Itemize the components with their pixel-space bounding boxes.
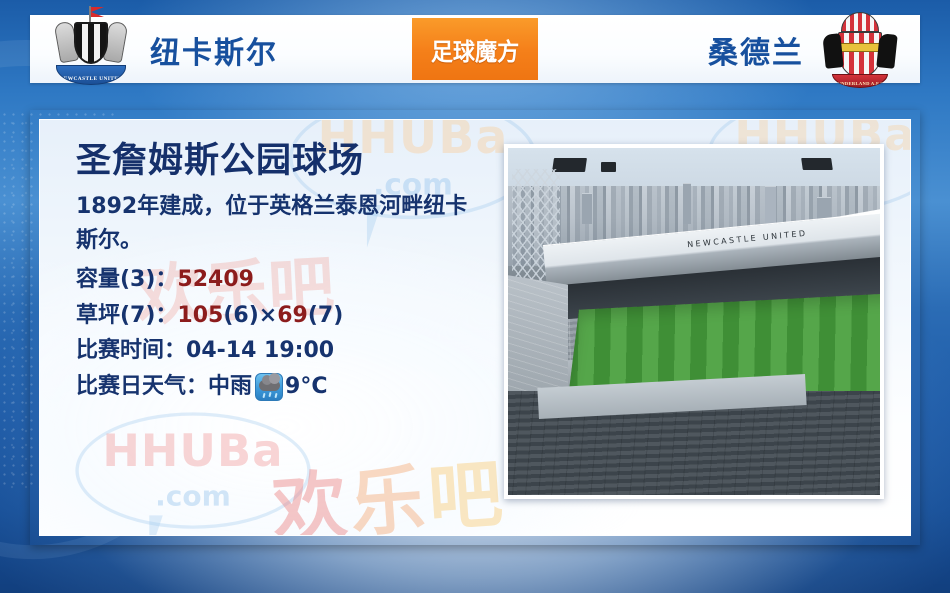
watermark-cn-char-1: 欢 bbox=[270, 462, 354, 536]
match-time-label: 比赛时间： bbox=[76, 333, 186, 369]
pitch-length-rank: (6) bbox=[223, 298, 258, 334]
home-crest-ribbon-text: NEWCASTLE UNITED bbox=[56, 65, 126, 85]
capacity-label: 容量(3)： bbox=[76, 262, 177, 298]
photo-city-tower bbox=[765, 186, 776, 224]
stadium-title: 圣詹姆斯公园球场 bbox=[76, 142, 496, 181]
stadium-photo-frame[interactable]: NEWCASTLE UNITED bbox=[504, 144, 884, 499]
rain-cloud-icon bbox=[255, 373, 283, 401]
weather-temperature: 9°C bbox=[285, 369, 327, 405]
pitch-size-row: 草坪(7)：105(6)×69(7) bbox=[76, 298, 496, 334]
pitch-length-value: 105 bbox=[177, 298, 223, 334]
match-weather-row: 比赛日天气：中雨 9°C bbox=[76, 369, 496, 405]
newcastle-united-crest-icon: NEWCASTLE UNITED bbox=[54, 6, 128, 88]
match-time-value: 04-14 19:00 bbox=[186, 333, 334, 369]
site-brand-text: 足球魔方 bbox=[431, 32, 519, 67]
away-crest-ribbon-text: SUNDERLAND A.F.C. bbox=[832, 74, 888, 88]
match-time-row: 比赛时间：04-14 19:00 bbox=[76, 333, 496, 369]
pitch-width-rank: (7) bbox=[308, 298, 343, 334]
home-team-name: 纽卡斯尔 bbox=[150, 28, 278, 72]
watermark-cn-char-3: 吧 bbox=[425, 451, 509, 536]
away-team-block[interactable]: 桑德兰 SUNDERLAND A.F.C. bbox=[708, 16, 920, 83]
photo-floodlight bbox=[801, 158, 832, 170]
photo-floodlight bbox=[601, 162, 616, 172]
watermark-domain: .com bbox=[87, 480, 300, 512]
watermark-bubble-bottom: HHUBa .com bbox=[75, 412, 310, 536]
content-panel: HHUBa .com HHUBa .com HHUBa .com 欢乐吧 欢乐吧… bbox=[39, 119, 911, 536]
photo-city-tower bbox=[582, 193, 592, 224]
watermark-brand-latin: HHUBa bbox=[87, 426, 300, 478]
pitch-width-value: 69 bbox=[277, 298, 308, 334]
weather-label: 比赛日天气： bbox=[76, 369, 208, 405]
away-team-name: 桑德兰 bbox=[708, 28, 804, 72]
content-frame: HHUBa .com HHUBa .com HHUBa .com 欢乐吧 欢乐吧… bbox=[30, 110, 920, 545]
capacity-value: 52409 bbox=[177, 262, 254, 298]
stadium-info-screen: NEWCASTLE UNITED 纽卡斯尔 桑德兰 SUNDERLAND A.F… bbox=[0, 0, 950, 593]
watermark-cn-char-2: 乐 bbox=[348, 456, 432, 536]
photo-city-tower bbox=[683, 183, 691, 225]
sunderland-afc-crest-icon: SUNDERLAND A.F.C. bbox=[824, 10, 896, 88]
pitch-times-symbol: × bbox=[259, 298, 277, 334]
stadium-info-column: 圣詹姆斯公园球场 1892年建成，位于英格兰泰恩河畔纽卡斯尔。 容量(3)：52… bbox=[76, 142, 496, 405]
weather-condition: 中雨 bbox=[208, 369, 252, 405]
site-brand-logo[interactable]: 足球魔方 bbox=[412, 18, 538, 80]
photo-roof-text: NEWCASTLE UNITED bbox=[687, 229, 808, 250]
pitch-label: 草坪(7)： bbox=[76, 298, 177, 334]
stadium-description: 1892年建成，位于英格兰泰恩河畔纽卡斯尔。 bbox=[76, 190, 476, 257]
capacity-row: 容量(3)：52409 bbox=[76, 262, 496, 298]
st-james-park-photo: NEWCASTLE UNITED bbox=[508, 148, 880, 495]
watermark-brand-cn-bottom: 欢乐吧 bbox=[269, 434, 510, 536]
home-team-block[interactable]: NEWCASTLE UNITED 纽卡斯尔 bbox=[30, 16, 278, 83]
